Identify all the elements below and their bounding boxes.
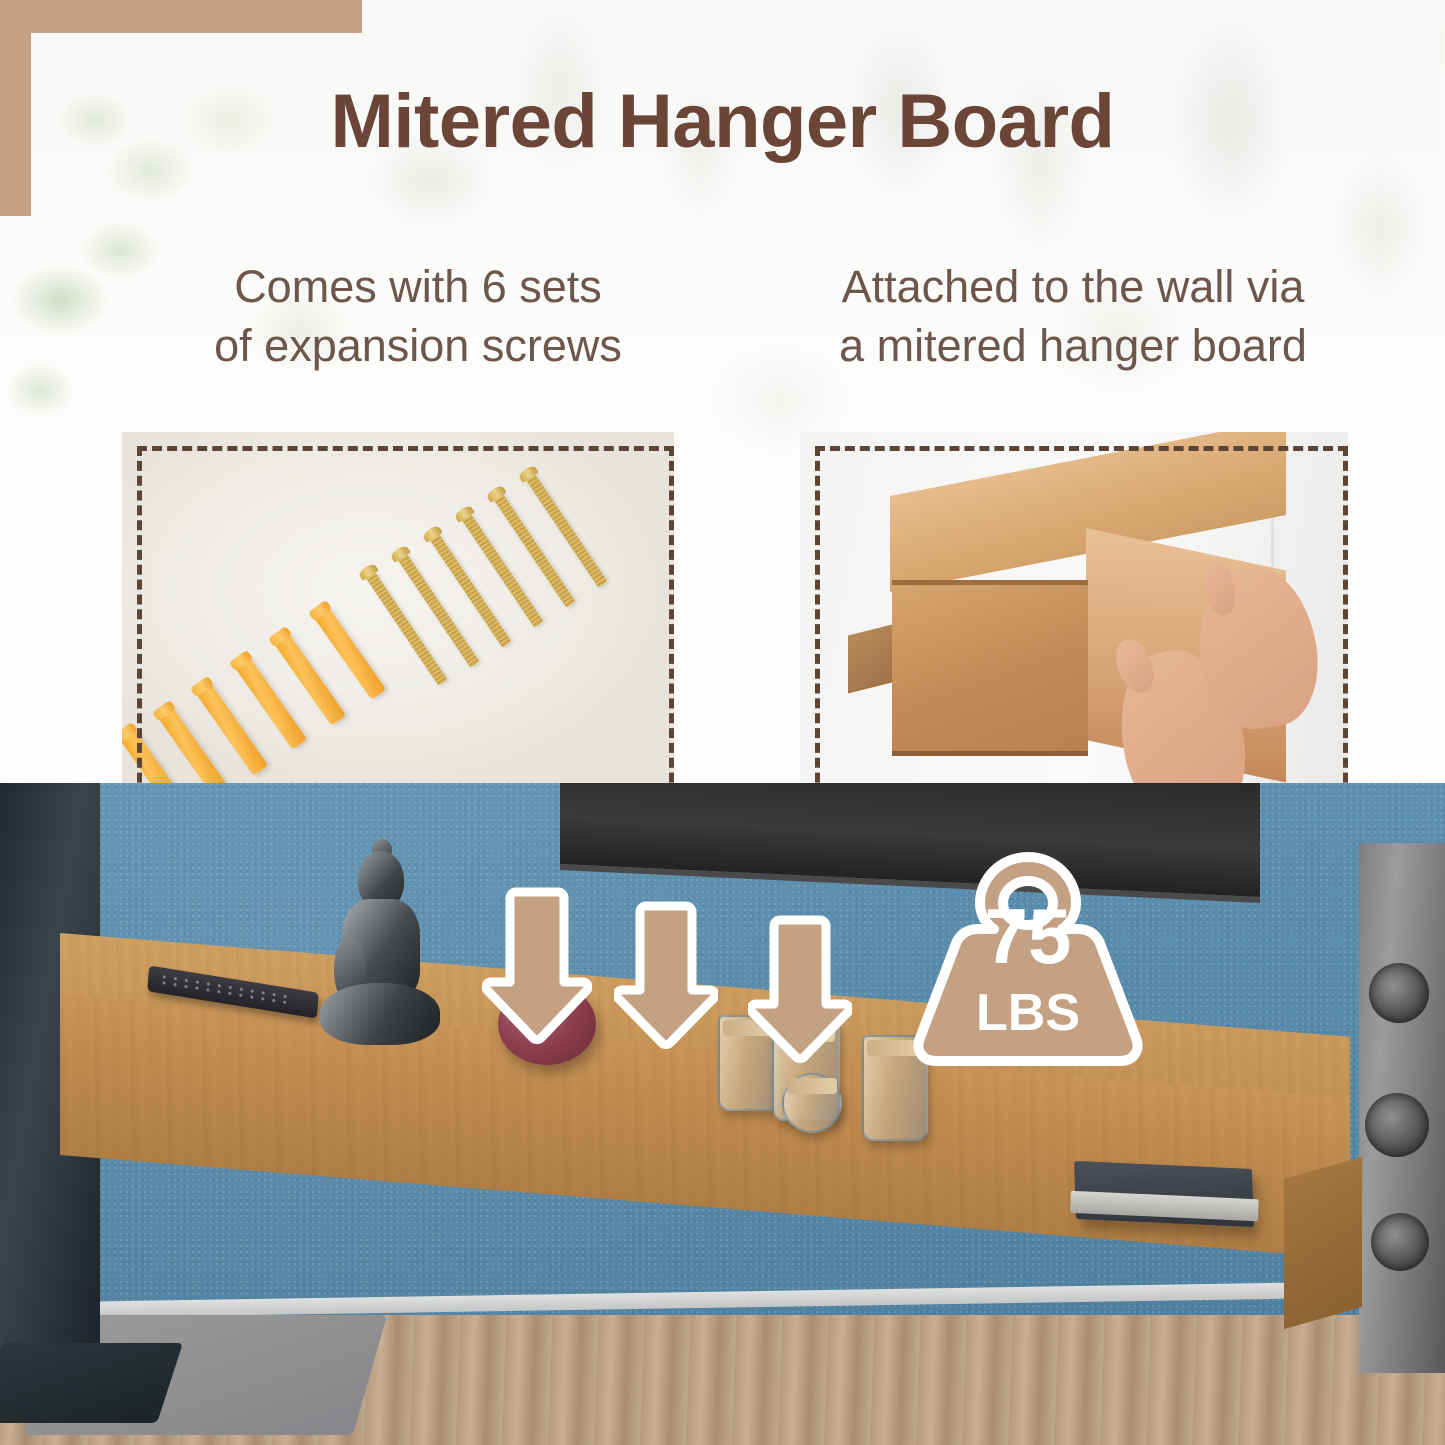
feature-caption-right-line2: a mitered hanger board — [728, 317, 1418, 376]
figurine-legs — [320, 983, 440, 1045]
feature-caption-right-line1: Attached to the wall via — [728, 258, 1418, 317]
load-arrow-3 — [748, 914, 852, 1064]
corner-accent-top-left-horizontal — [0, 0, 362, 33]
floating-shelf-end-cap — [1284, 1157, 1362, 1329]
feature-caption-left-line1: Comes with 6 sets — [108, 258, 728, 317]
weight-capacity-badge: 75 LBS — [908, 845, 1148, 1067]
speaker-driver — [1369, 963, 1429, 1023]
infographic-root: Mitered Hanger Board Comes with 6 sets o… — [0, 0, 1445, 1445]
weight-value: 75 — [908, 897, 1148, 975]
floor-speaker-left-base — [0, 1343, 183, 1423]
feature-caption-right: Attached to the wall via a mitered hange… — [728, 258, 1418, 375]
speaker-driver — [1371, 1213, 1429, 1271]
room-scene — [0, 783, 1445, 1445]
meditating-figurine — [312, 851, 444, 1051]
feature-caption-left: Comes with 6 sets of expansion screws — [108, 258, 728, 375]
load-arrow-1 — [482, 886, 592, 1046]
page-title: Mitered Hanger Board — [0, 78, 1445, 165]
hardcover-book — [1074, 1161, 1254, 1227]
weight-unit: LBS — [908, 987, 1148, 1039]
feature-caption-left-line2: of expansion screws — [108, 317, 728, 376]
speaker-driver — [1365, 1093, 1429, 1157]
glass-jar — [782, 1073, 842, 1133]
load-arrow-2 — [614, 900, 718, 1050]
